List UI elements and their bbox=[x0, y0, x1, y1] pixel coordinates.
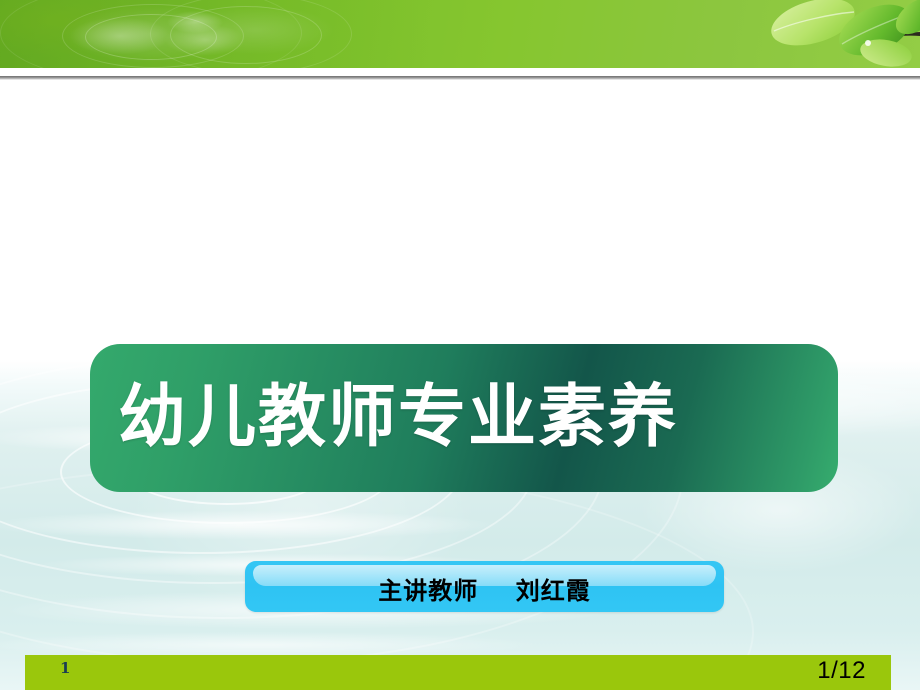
title-plaque: 幼儿教师专业素养 bbox=[90, 344, 838, 492]
presenter-plaque: 主讲教师 刘红霞 bbox=[245, 561, 724, 612]
header-divider-rule bbox=[0, 76, 920, 80]
footer-bar: 1 1/12 bbox=[25, 655, 891, 690]
presentation-slide: 幼儿教师专业素养 主讲教师 刘红霞 1 1/12 bbox=[0, 0, 920, 690]
leaf-icon bbox=[670, 0, 920, 68]
slide-number: 1 bbox=[60, 659, 70, 677]
header-banner bbox=[0, 0, 920, 68]
page-title: 幼儿教师专业素养 bbox=[118, 384, 678, 452]
header-ripple-ring bbox=[85, 14, 217, 60]
slide-progress-indicator: 1/12 bbox=[817, 657, 866, 685]
presenter-label: 主讲教师 刘红霞 bbox=[378, 571, 590, 606]
